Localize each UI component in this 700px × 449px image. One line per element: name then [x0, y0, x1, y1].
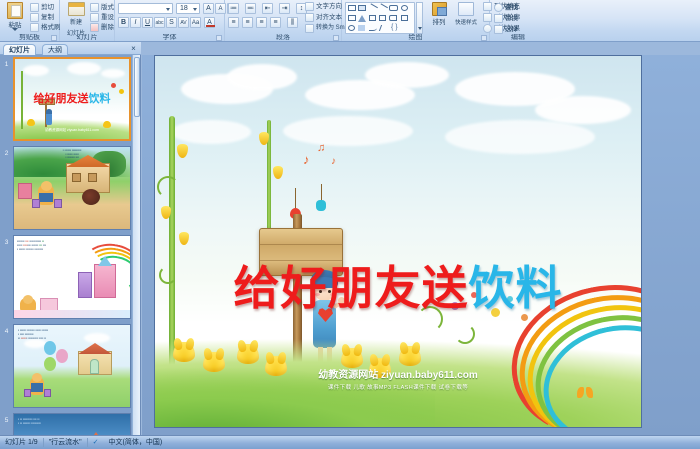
- thumbnail-row-1[interactable]: 1 给好朋友送饮料: [0, 57, 141, 143]
- smartart-icon: [305, 24, 314, 33]
- thumbnail-preview-2: ▪ ▪▪▪▪▪▪ ▪▪▪▪▪▪▪▪▪▪ ▪▪▪▪▪ ▪▪▪▪▪▪ ▪▪▪▪▪▪▪…: [14, 147, 130, 229]
- hanging-ornament-decoration: [316, 200, 326, 211]
- thumbnail-row-2[interactable]: 2 ▪ ▪▪▪▪▪▪ ▪▪▪▪▪▪▪: [0, 146, 141, 232]
- spellcheck-icon[interactable]: ✓: [88, 436, 104, 449]
- format-painter-icon: [30, 23, 39, 32]
- thumbnail-preview-1: 给好朋友送饮料 幼教资源网站 ziyuan.baby611.com: [15, 59, 129, 139]
- ribbon-group-font: 18 A A ⌫ B I U abc S AV Aa A 字体: [115, 0, 225, 42]
- cut-button[interactable]: 剪切: [30, 3, 54, 12]
- font-name-combo[interactable]: [118, 3, 173, 14]
- textbox-shape-icon[interactable]: [358, 5, 366, 11]
- music-note-decoration: ♫: [317, 142, 325, 154]
- hanging-ornament-decoration: [295, 188, 296, 210]
- list-item[interactable]: ▪ ▪▪▪▪▪▪ ▪▪▪▪▪▪▪▪▪▪ ▪▪▪▪▪ ▪▪▪▪▪▪ ▪▪▪▪▪▪▪…: [13, 146, 131, 230]
- brace-shape-icon[interactable]: { }: [391, 25, 398, 31]
- ribbon-group-editing: 查找 替换 选择 编辑: [490, 0, 546, 42]
- arrange-button[interactable]: 排列: [427, 2, 451, 26]
- slide-title[interactable]: 给好朋友送饮料: [155, 252, 641, 318]
- align-left-icon[interactable]: ≡: [228, 17, 239, 28]
- pentagon-shape-icon[interactable]: [401, 15, 408, 21]
- vine-curl-decoration: [455, 324, 475, 344]
- find-button[interactable]: 查找: [494, 3, 518, 12]
- thumbnail-number: 2: [2, 150, 11, 158]
- thumbnail-body-text: ▪▪▪▪▪▪▪ ▪▪▪ ▪▪▪▪▪▪▪▪▪▪▪ ▪▪ ▪▪▪▪▪ ▪▪▪▪▪▪▪…: [17, 239, 124, 251]
- delete-slide-button[interactable]: 删除: [90, 23, 114, 32]
- arrow-shape-icon[interactable]: [378, 3, 388, 12]
- replace-icon: [494, 14, 503, 23]
- text-direction-label: 文字方向: [316, 3, 342, 10]
- thumbnail-row-5[interactable]: 5 ▪ ▪▪ ▪▪▪▪▪▪▪▪▪ ▪▪▪ ▪▪ ▪ ▪▪ ▪▪▪▪▪▪▪ ▪▪▪…: [0, 413, 141, 435]
- font-color-icon[interactable]: A: [204, 17, 215, 28]
- quick-styles-button[interactable]: 快速样式: [452, 2, 480, 27]
- music-note-decoration: ♪: [331, 156, 336, 167]
- replace-label: 替换: [505, 15, 518, 22]
- quick-styles-label: 快速样式: [455, 20, 477, 26]
- align-center-icon[interactable]: ≡: [242, 17, 253, 28]
- layout-icon: [90, 3, 99, 12]
- quick-styles-icon: [458, 2, 474, 16]
- oval-shape-icon[interactable]: [401, 5, 408, 11]
- ribbon-group-paragraph: ≔ ≕ ⇤ ⇥ ↕ ≡ ≡ ≡ ≡ ⫼ 文字方向 对齐文本 转换为 SmartA…: [225, 0, 342, 42]
- thumbnail-number: 5: [2, 417, 11, 425]
- curve-shape-icon[interactable]: [369, 25, 377, 31]
- bell-flower-decoration: [179, 232, 189, 245]
- tulip-flower-decoration: [237, 344, 259, 364]
- thumbnail-preview-5: ▪ ▪▪ ▪▪▪▪▪▪▪▪▪ ▪▪▪ ▪▪ ▪ ▪▪ ▪▪▪▪▪▪▪ ▪▪▪▪▪…: [14, 414, 130, 435]
- thumbnail-row-3[interactable]: 3 ▪▪▪▪▪▪▪ ▪▪▪ ▪▪▪▪▪▪▪▪▪▪▪ ▪▪: [0, 235, 141, 321]
- tulip-flower-decoration: [369, 358, 391, 378]
- parallelogram-shape-icon[interactable]: [369, 15, 376, 21]
- format-painter-button[interactable]: 格式刷: [30, 23, 61, 32]
- status-bar: 幻灯片 1/9 "行云流水" ✓ 中文(简体，中国): [0, 435, 700, 449]
- slide-panel-tabstrip: 幻灯片 大纲 ×: [0, 42, 141, 55]
- decrease-indent-icon[interactable]: ⇤: [262, 3, 273, 14]
- increase-indent-icon[interactable]: ⇥: [279, 3, 290, 14]
- list-item[interactable]: ▪ ▪▪▪▪▪▪ ▪▪▪▪▪▪▪ ▪▪▪▪▪ ▪▪▪▪▪▪ ▪ ▪▪▪▪ ▪▪▪…: [13, 324, 131, 408]
- slide-title-red-part: 给好朋友送: [234, 261, 469, 315]
- text-direction-button[interactable]: 文字方向: [305, 2, 342, 11]
- trapezoid-shape-icon[interactable]: [379, 15, 386, 21]
- circle-shape-icon[interactable]: [348, 25, 355, 31]
- slide-counter[interactable]: 幻灯片 1/9: [0, 436, 43, 449]
- list-item[interactable]: ▪▪▪▪▪▪▪ ▪▪▪ ▪▪▪▪▪▪▪▪▪▪▪ ▪▪ ▪▪▪▪▪ ▪▪▪▪▪▪▪…: [13, 235, 131, 319]
- thumbnail-watermark: 幼教资源网站 ziyuan.baby611.com: [15, 128, 129, 133]
- cloud-decoration: [171, 120, 251, 144]
- powerpoint-window: 粘贴 剪切 复制 格式刷 剪贴板 新: [0, 0, 700, 449]
- layout-button[interactable]: 版式: [90, 3, 114, 12]
- ribbon-group-drawing: { } 排列 快速样式 形状填充 形状轮廓: [342, 0, 490, 42]
- copy-icon: [30, 13, 39, 22]
- rounded-rect-shape-icon[interactable]: [389, 5, 398, 11]
- font-size-combo[interactable]: 18: [176, 3, 200, 14]
- list-item[interactable]: ▪ ▪▪ ▪▪▪▪▪▪▪▪▪ ▪▪▪ ▪▪ ▪ ▪▪ ▪▪▪▪▪▪▪ ▪▪▪▪▪…: [13, 413, 131, 435]
- cut-label: 剪切: [41, 4, 54, 11]
- copy-button[interactable]: 复制: [30, 13, 54, 22]
- numbering-icon[interactable]: ≕: [245, 3, 256, 14]
- align-right-icon[interactable]: ≡: [256, 17, 267, 28]
- paste-button[interactable]: 粘贴: [4, 2, 26, 31]
- reset-icon: [90, 13, 99, 22]
- strikethrough-icon[interactable]: abc: [154, 17, 165, 28]
- thumbnail-number: 1: [2, 61, 11, 69]
- grass-ground-decoration: [154, 367, 435, 428]
- thumbnail-number: 4: [2, 328, 11, 336]
- slide-panel-scroll-thumb[interactable]: [134, 57, 140, 117]
- theme-name[interactable]: "行云流水": [44, 436, 87, 449]
- select-icon: [494, 25, 503, 34]
- layout-label: 版式: [101, 4, 114, 11]
- tulip-flower-decoration: [265, 356, 287, 376]
- thumbnail-number: 3: [2, 239, 11, 247]
- thumbnail-title-blue: 饮料: [89, 92, 111, 105]
- bell-flower-decoration: [273, 166, 283, 179]
- tab-outline-label: 大纲: [48, 47, 62, 54]
- tulip-flower-decoration: [173, 342, 195, 362]
- new-slide-button[interactable]: 新建幻灯片: [64, 2, 88, 37]
- reset-button[interactable]: 重设: [90, 13, 114, 22]
- cloud-decoration: [445, 120, 595, 154]
- triangle-shape-icon[interactable]: [358, 15, 366, 22]
- italic-icon[interactable]: I: [130, 17, 141, 28]
- list-item[interactable]: 给好朋友送饮料 幼教资源网站 ziyuan.baby611.com: [13, 57, 131, 141]
- chevron-down-icon[interactable]: [418, 27, 422, 30]
- line-shape-icon[interactable]: [368, 3, 378, 12]
- vine-curl-decoration: [157, 176, 179, 198]
- shapes-gallery[interactable]: { }: [345, 2, 415, 34]
- cloud-decoration: [365, 62, 449, 88]
- cloud-decoration: [535, 96, 631, 124]
- justify-icon[interactable]: ≡: [270, 17, 281, 28]
- delete-icon: [90, 23, 99, 32]
- columns-icon[interactable]: ⫼: [287, 17, 298, 28]
- tab-slides[interactable]: 幻灯片: [3, 44, 36, 55]
- language-status[interactable]: 中文(简体，中国): [104, 436, 168, 449]
- reset-label: 重设: [101, 14, 114, 21]
- thumbnail-preview-4: ▪ ▪▪▪▪▪▪ ▪▪▪▪▪▪▪ ▪▪▪▪▪ ▪▪▪▪▪▪ ▪ ▪▪▪▪ ▪▪▪…: [14, 325, 130, 407]
- find-label: 查找: [505, 4, 518, 11]
- freeform-shape-icon[interactable]: [358, 25, 365, 31]
- slide-thumbnail-panel[interactable]: 1 给好朋友送饮料: [0, 55, 141, 435]
- new-slide-icon: [68, 2, 85, 16]
- thumbnail-body-text: ▪ ▪▪▪▪▪▪ ▪▪▪▪▪▪▪ ▪▪▪▪▪ ▪▪▪▪▪▪ ▪ ▪▪▪▪ ▪▪▪…: [18, 328, 125, 340]
- shapes-gallery-scroll[interactable]: [416, 2, 423, 34]
- tab-slides-label: 幻灯片: [9, 47, 30, 54]
- arrange-label: 排列: [433, 19, 446, 26]
- music-note-decoration: ♪: [303, 152, 310, 167]
- thumbnail-preview-3: ▪▪▪▪▪▪▪ ▪▪▪ ▪▪▪▪▪▪▪▪▪▪▪ ▪▪ ▪▪▪▪▪ ▪▪▪▪▪▪▪…: [14, 236, 130, 318]
- format-painter-label: 格式刷: [41, 24, 61, 31]
- shadow-icon[interactable]: S: [166, 17, 177, 28]
- text-direction-icon: [305, 2, 314, 11]
- ribbon-group-clipboard: 粘贴 剪切 复制 格式刷 剪贴板: [0, 0, 60, 42]
- bullets-icon[interactable]: ≔: [228, 3, 239, 14]
- cloud-decoration: [227, 64, 297, 90]
- current-slide-canvas[interactable]: ♪ ♫ ♪: [154, 55, 642, 428]
- thumbnail-row-4[interactable]: 4 ▪ ▪▪▪▪▪▪ ▪▪▪▪▪▪▪: [0, 324, 141, 410]
- cut-icon: [30, 3, 39, 12]
- slide-title-blue-part: 饮料: [469, 261, 563, 315]
- grow-font-icon[interactable]: A: [203, 3, 214, 14]
- tulip-flower-decoration: [399, 346, 421, 366]
- ribbon-group-slides: 新建幻灯片 版式 重设 删除 幻灯片: [60, 0, 115, 42]
- cloud-decoration: [283, 116, 413, 146]
- replace-button[interactable]: 替换: [494, 14, 518, 23]
- underline-icon[interactable]: U: [142, 17, 153, 28]
- align-text-button[interactable]: 对齐文本: [305, 13, 342, 22]
- thumbnail-body-text: ▪ ▪▪▪▪▪▪ ▪▪▪▪▪▪▪▪▪▪ ▪▪▪▪▪ ▪▪▪▪▪▪ ▪▪▪▪▪▪▪…: [14, 149, 130, 160]
- select-label: 选择: [505, 26, 518, 33]
- align-text-label: 对齐文本: [316, 14, 342, 21]
- ribbon: 粘贴 剪切 复制 格式刷 剪贴板 新: [0, 0, 700, 42]
- character-spacing-icon[interactable]: AV: [178, 17, 189, 28]
- rectangle-shape-icon[interactable]: [348, 5, 356, 11]
- tab-outline[interactable]: 大纲: [42, 44, 68, 55]
- butterfly-decoration: [577, 387, 593, 399]
- slide-editing-stage[interactable]: ♪ ♫ ♪: [142, 55, 700, 435]
- paste-label: 粘贴: [9, 22, 22, 29]
- thumbnail-title-red: 给好朋友送: [34, 92, 89, 105]
- tulip-flower-decoration: [203, 352, 225, 372]
- align-text-icon: [305, 13, 314, 22]
- arrange-icon: [432, 2, 447, 16]
- delete-label: 删除: [101, 24, 114, 31]
- bold-icon[interactable]: B: [118, 17, 129, 28]
- find-icon: [494, 3, 503, 12]
- slide-panel-scrollbar[interactable]: [132, 55, 140, 435]
- close-icon[interactable]: ×: [129, 45, 138, 54]
- select-button[interactable]: 选择: [494, 25, 518, 34]
- tulip-flower-decoration: [341, 348, 363, 368]
- copy-label: 复制: [41, 14, 54, 21]
- square-shape-icon[interactable]: [348, 15, 356, 21]
- paste-icon: [7, 2, 23, 19]
- scribble-shape-icon[interactable]: [379, 25, 389, 31]
- thumbnail-body-text: ▪ ▪▪ ▪▪▪▪▪▪▪▪▪ ▪▪▪ ▪▪ ▪ ▪▪ ▪▪▪▪▪▪▪ ▪▪▪▪▪…: [18, 417, 118, 425]
- block-arrow-shape-icon[interactable]: [389, 15, 397, 21]
- font-size-value: 18: [180, 5, 188, 12]
- change-case-icon[interactable]: Aa: [190, 17, 201, 28]
- bell-flower-decoration: [177, 144, 188, 158]
